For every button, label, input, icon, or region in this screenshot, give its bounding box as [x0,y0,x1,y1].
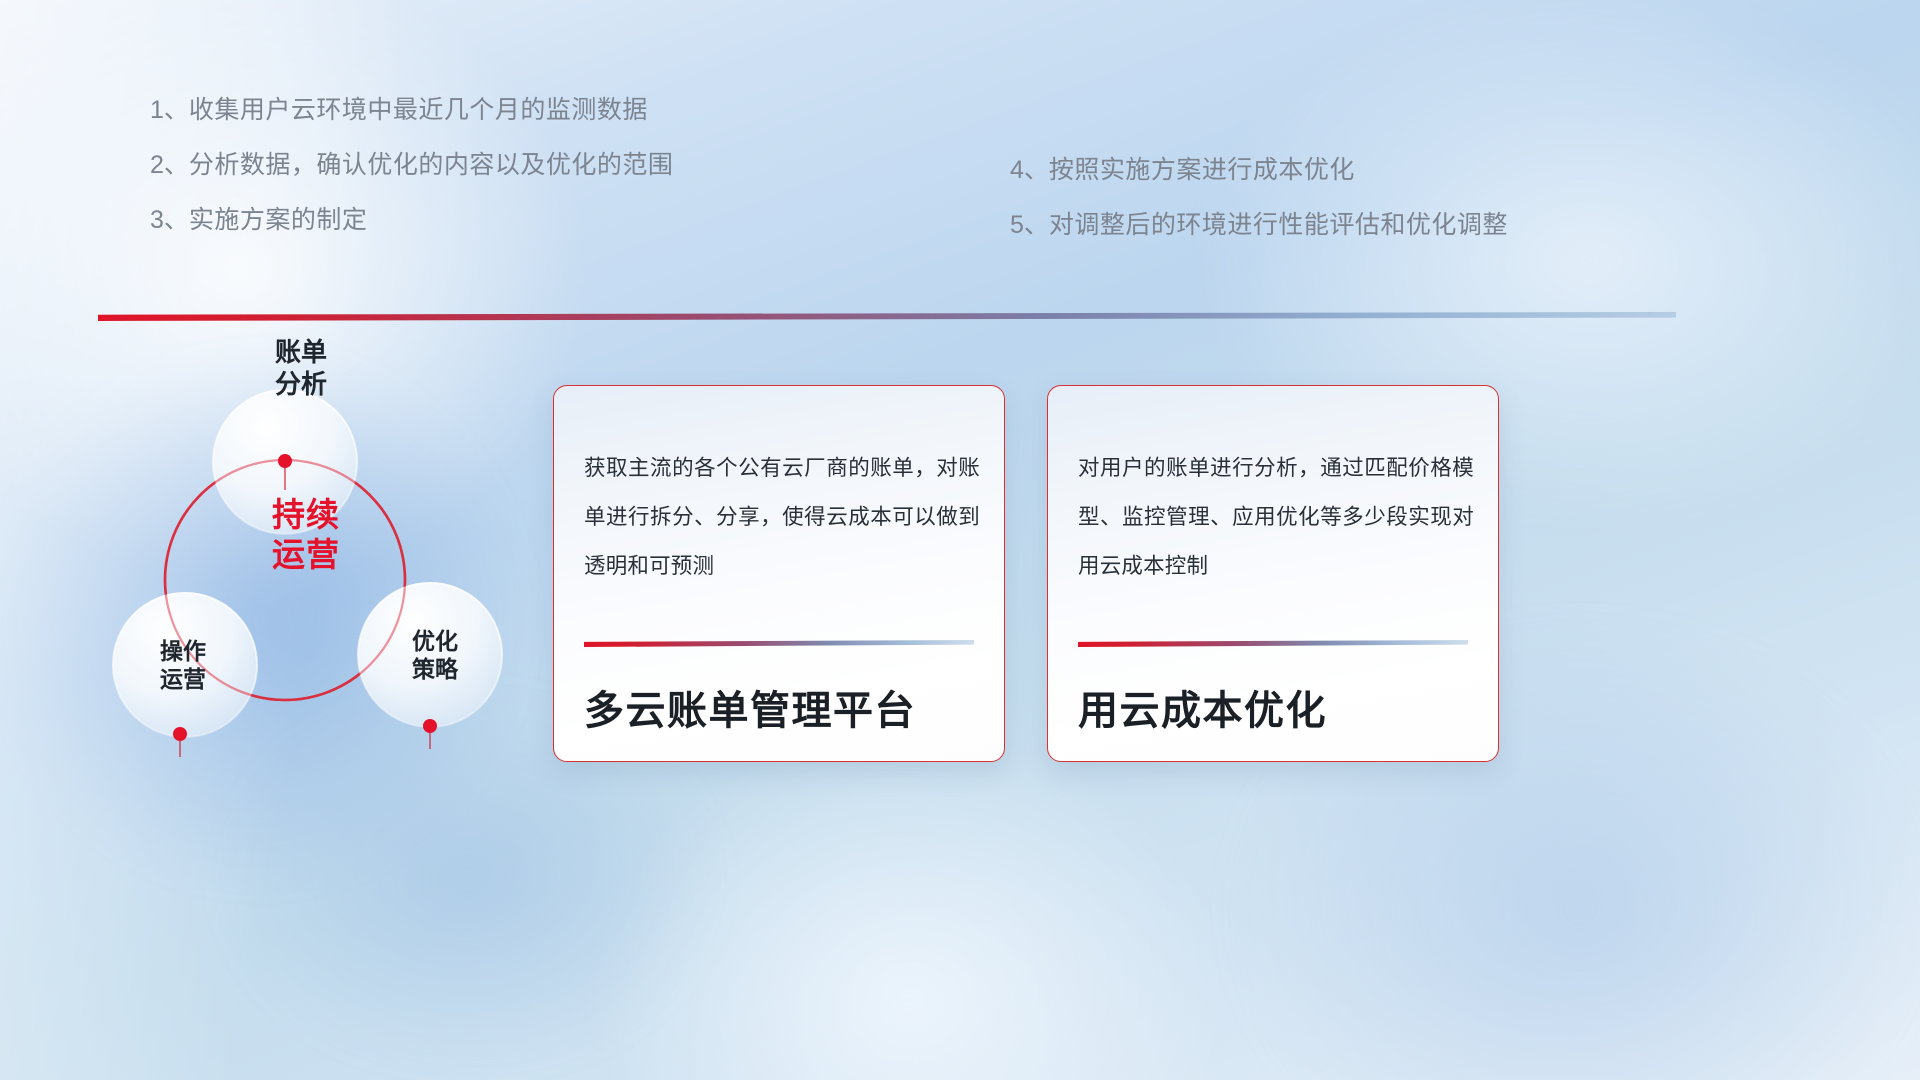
list-item: 1、收集用户云环境中最近几个月的监测数据 [150,98,673,123]
list-item-label: 实施方案的制定 [189,206,368,234]
venn-bubble-bottom-left [113,593,257,737]
info-card[interactable]: 获取主流的各个公有云厂商的账单，对账单进行拆分、分享，使得云成本可以做到透明和可… [553,385,1005,762]
info-card-body: 对用户的账单进行分析，通过匹配价格模型、监控管理、应用优化等多少段实现对用云成本… [1078,444,1474,591]
steps-list-right: 4、按照实施方案进行成本优化 5、对调整后的环境进行性能评估和优化调整 [1010,158,1508,268]
list-item-number: 3、 [150,206,189,234]
slide-canvas: 1、收集用户云环境中最近几个月的监测数据 2、分析数据，确认优化的内容以及优化的… [0,0,1920,1080]
list-item: 3、实施方案的制定 [150,208,673,233]
list-item-label: 分析数据，确认优化的内容以及优化的范围 [189,151,674,179]
info-card-body: 获取主流的各个公有云厂商的账单，对账单进行拆分、分享，使得云成本可以做到透明和可… [584,444,980,591]
info-card-title: 多云账单管理平台 [584,678,982,736]
list-item: 5、对调整后的环境进行性能评估和优化调整 [1010,213,1508,238]
info-card-divider [1078,640,1468,647]
venn-node-dot-top [278,454,292,468]
list-item-number: 2、 [150,151,189,179]
list-item: 4、按照实施方案进行成本优化 [1010,158,1508,183]
list-item: 2、分析数据，确认优化的内容以及优化的范围 [150,153,673,178]
list-item-label: 对调整后的环境进行性能评估和优化调整 [1049,211,1508,239]
info-card-divider [584,640,974,647]
list-item-number: 4、 [1010,156,1049,184]
list-item-number: 5、 [1010,211,1049,239]
list-item-label: 收集用户云环境中最近几个月的监测数据 [189,96,648,124]
venn-node-dot-bottom-left [173,727,187,741]
info-card-title: 用云成本优化 [1078,678,1476,736]
list-item-label: 按照实施方案进行成本优化 [1049,156,1355,184]
info-card[interactable]: 对用户的账单进行分析，通过匹配价格模型、监控管理、应用优化等多少段实现对用云成本… [1047,385,1499,762]
venn-node-dot-bottom-right [423,719,437,733]
venn-diagram [100,345,560,805]
steps-list-left: 1、收集用户云环境中最近几个月的监测数据 2、分析数据，确认优化的内容以及优化的… [150,98,673,263]
list-item-number: 1、 [150,96,189,124]
